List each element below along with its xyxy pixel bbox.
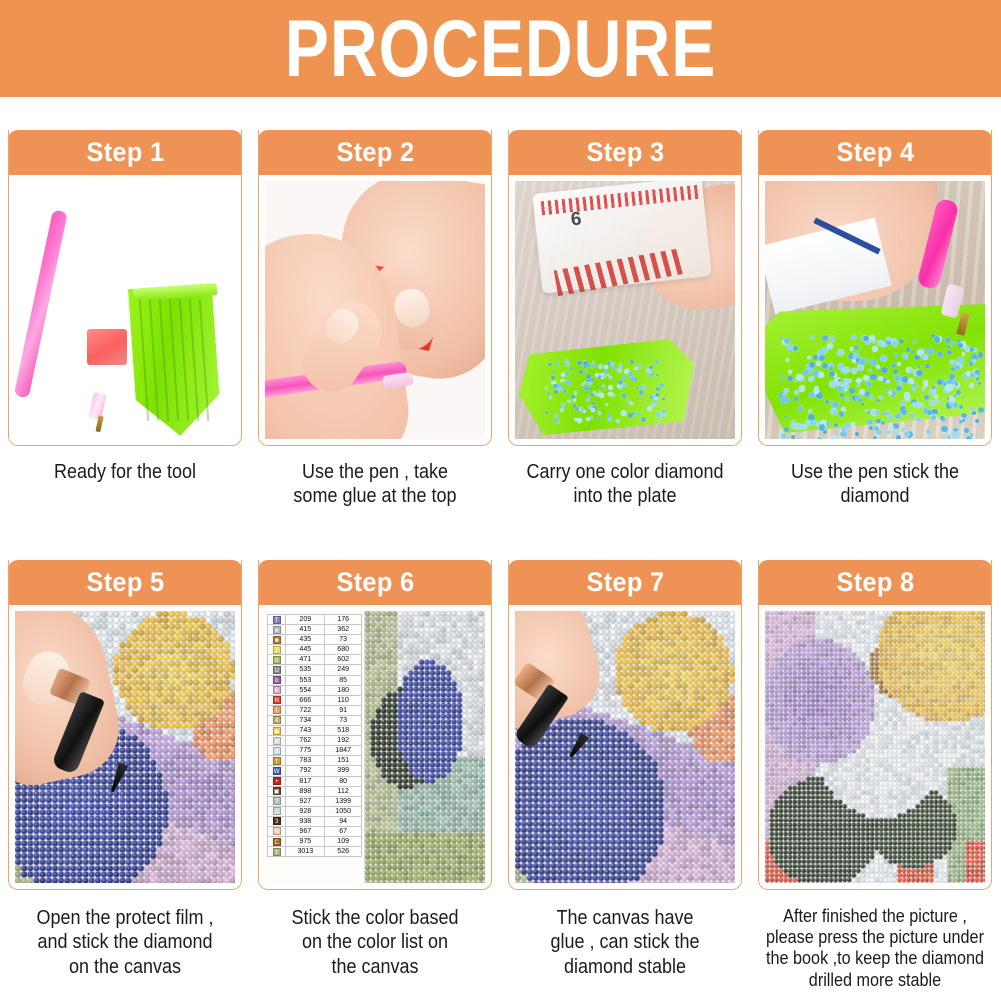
color-symbol-cell: ● (268, 625, 286, 635)
diamond-bead (859, 358, 866, 365)
diamond-bead (622, 376, 626, 380)
diamond-bead (934, 336, 941, 343)
diamond-bead (867, 419, 873, 425)
count-cell: 1847 (325, 746, 362, 756)
step-card-5[interactable]: Step 5 (8, 560, 242, 890)
color-symbol-cell: Y (268, 847, 286, 857)
diamond-bead (649, 373, 653, 377)
color-list-row: C975109 (268, 837, 362, 847)
step-caption-7: The canvas have glue , can stick the dia… (514, 906, 735, 979)
count-cell: 399 (325, 766, 362, 776)
page-header-banner: PROCEDURE (0, 0, 1001, 97)
diamond-bead (553, 371, 556, 374)
diamond-bead (565, 361, 570, 366)
count-cell: 91 (325, 705, 362, 715)
dmc-number-cell: 783 (286, 756, 325, 766)
diamond-bead (955, 382, 958, 385)
diamond-bead (634, 378, 637, 381)
diamond-bead (788, 370, 792, 374)
step-cell-4: Step 4 Use t (750, 130, 1000, 509)
diamond-bead (608, 392, 613, 397)
diamond-bead (896, 386, 902, 392)
color-list-row: †783151 (268, 756, 362, 766)
color-list-row: ▣898112 (268, 786, 362, 796)
caption-line: The canvas have (514, 906, 735, 930)
color-list-row: △9281050 (268, 806, 362, 816)
diamond-bead (655, 360, 659, 364)
dmc-number-cell: 743 (286, 726, 325, 736)
color-symbol-cell: † (268, 756, 286, 766)
step-cell-5: Step 5 Open the protect (0, 560, 250, 991)
dmc-number-cell: 762 (286, 736, 325, 746)
diamond-bead (817, 437, 822, 439)
diamond-bead (798, 406, 803, 411)
diamond-bead (553, 384, 558, 389)
step-header-label-3: Step 3 (586, 139, 664, 166)
diamond-bead (957, 357, 964, 364)
caption-line: Stick the color based (264, 906, 485, 930)
count-cell: 176 (325, 615, 362, 625)
color-list-row: //7751847 (268, 746, 362, 756)
diamond-bead (883, 412, 887, 416)
color-symbol-cell: ■ (268, 635, 286, 645)
count-cell: 526 (325, 847, 362, 857)
step-card-8[interactable]: Step 8 (758, 560, 992, 890)
step-card-7[interactable]: Step 7 (508, 560, 742, 890)
color-symbol-cell: n (268, 655, 286, 665)
diamond-bead (934, 395, 938, 399)
caption-line: some glue at the top (264, 484, 485, 508)
color-symbol-cell: İ (268, 705, 286, 715)
step-caption-2: Use the pen , take some glue at the top (264, 460, 485, 509)
color-symbol-cell: W (268, 766, 286, 776)
diamond-bead (866, 381, 872, 387)
diamond-bead (548, 392, 551, 395)
step-cell-3: Step 3 6 Carry one color d (500, 130, 750, 509)
count-cell: 151 (325, 756, 362, 766)
color-list-row: ◆743518 (268, 726, 362, 736)
diamond-bead (962, 352, 965, 355)
diamond-bead (902, 376, 909, 383)
diamond-bead (904, 392, 910, 398)
dmc-color-list[interactable]: T209176●415362■435737445680n471602U53524… (265, 611, 365, 883)
diamond-bead (781, 375, 785, 379)
diamond-bead (598, 364, 603, 369)
diamond-bead (808, 409, 812, 413)
color-list-row: ●415362 (268, 625, 362, 635)
caption-line: Use the pen stick the (764, 460, 985, 484)
diamond-bead (561, 403, 565, 407)
diamond-bead (632, 412, 635, 415)
caption-line: Carry one color diamond (514, 460, 735, 484)
diamond-bead (852, 359, 856, 363)
diamond-bead (565, 359, 568, 362)
diamond-bead (628, 413, 633, 418)
caption-line: drilled more stable (764, 970, 985, 991)
step-header-label-8: Step 8 (836, 569, 914, 596)
diamond-bead (793, 346, 798, 351)
diamond-bead (587, 364, 590, 367)
diamond-bead (593, 391, 596, 394)
diamond-bead (972, 411, 976, 415)
diamond-canvas-mosaic (365, 611, 485, 883)
color-list-row: ?9271399 (268, 796, 362, 806)
diamond-bead (618, 380, 623, 385)
caption-line: Open the protect film , (14, 906, 235, 930)
diamond-bead (641, 417, 646, 422)
step-cell-6: Step 6 T209176●415362■435737445680n47160… (250, 560, 500, 991)
step-card-3[interactable]: Step 3 6 (508, 130, 742, 446)
diamond-bead (621, 410, 626, 415)
dmc-number-cell: 471 (286, 655, 325, 665)
step-body-5 (9, 605, 241, 889)
diamond-canvas-mosaic (765, 611, 985, 883)
diamond-bead (598, 393, 602, 397)
diamond-bead (628, 372, 633, 377)
diamond-bead (829, 366, 833, 370)
step-cell-8: Step 8 After finished the picture , plea… (750, 560, 1000, 991)
diamond-bead (931, 415, 936, 420)
step-header-label-5: Step 5 (86, 569, 164, 596)
count-cell: 110 (325, 695, 362, 705)
diamond-bead (639, 390, 644, 395)
diamond-bead (554, 419, 558, 423)
drill-pen-icon (15, 209, 68, 398)
dmc-number-cell: 722 (286, 705, 325, 715)
caption-line: the book ,to keep the diamond (764, 948, 985, 969)
count-cell: 112 (325, 786, 362, 796)
diamond-bead (845, 397, 849, 401)
dmc-number-cell: 415 (286, 625, 325, 635)
step-body-7 (509, 605, 741, 889)
step-caption-3: Carry one color diamond into the plate (514, 460, 735, 509)
caption-line: on the color list on (264, 930, 485, 954)
diamond-bead (814, 386, 820, 392)
diamond-bead (796, 374, 803, 381)
caption-line: diamond stable (514, 955, 735, 979)
diamond-bead (577, 361, 582, 366)
dmc-number-cell: 927 (286, 796, 325, 806)
step-body-8 (759, 605, 991, 889)
caption-line: on the canvas (14, 955, 235, 979)
caption-line: into the plate (514, 484, 735, 508)
caption-line: After finished the picture , (764, 906, 985, 927)
diamond-bead (829, 381, 835, 387)
count-cell: 1050 (325, 806, 362, 816)
color-symbol-cell: ? (268, 796, 286, 806)
diamond-bead (654, 401, 658, 405)
diamond-bead (816, 361, 821, 366)
count-cell: 249 (325, 665, 362, 675)
diamond-bead (595, 373, 599, 377)
step-cell-1: Step 1 (0, 130, 250, 509)
caption-line: Use the pen , take (264, 460, 485, 484)
color-symbol-cell: 6 (268, 685, 286, 695)
diamond-bead (859, 389, 865, 395)
count-cell: 602 (325, 655, 362, 665)
diamond-bead (592, 402, 595, 405)
diamond-bead (787, 376, 793, 382)
step-body-2 (259, 175, 491, 445)
step-card-4[interactable]: Step 4 (758, 130, 992, 446)
step-header-6: Step 6 (258, 560, 492, 605)
count-cell: 73 (325, 635, 362, 645)
step-card-1[interactable]: Step 1 (8, 130, 242, 446)
diamond-bead (961, 413, 967, 419)
diamond-bead (899, 339, 904, 344)
color-list-row: ■43573 (268, 635, 362, 645)
color-list-and-canvas: T209176●415362■435737445680n471602U53524… (265, 611, 485, 883)
diamond-bead (781, 433, 787, 439)
diamond-bead (951, 342, 955, 346)
color-symbol-cell: b (268, 675, 286, 685)
color-list-row: T209176 (268, 615, 362, 625)
diamond-bead (906, 347, 911, 352)
diamond-bead (893, 369, 898, 374)
step-header-8: Step 8 (758, 560, 992, 605)
diamond-bead (876, 419, 881, 424)
step-image-5 (15, 611, 235, 883)
color-symbol-cell: C (268, 837, 286, 847)
diamond-bead (560, 408, 564, 412)
diamond-bead (970, 433, 974, 437)
diamond-bead (970, 373, 974, 377)
diamond-bead (894, 353, 898, 357)
color-symbol-cell: 4 (268, 715, 286, 725)
diamond-bead (787, 344, 793, 350)
count-cell: 73 (325, 715, 362, 725)
color-list-row: =762192 (268, 736, 362, 746)
diamond-bead (822, 335, 828, 341)
caption-line: diamond (764, 484, 985, 508)
count-cell: 362 (325, 625, 362, 635)
step-body-4 (759, 175, 991, 445)
color-symbol-cell: 3 (268, 816, 286, 826)
diamond-bead (873, 436, 877, 439)
diamond-bead (617, 368, 622, 373)
diamond-bead (639, 386, 641, 388)
step-image-2 (265, 181, 485, 439)
diamond-bead (929, 400, 935, 406)
color-symbol-cell: % (268, 826, 286, 836)
dmc-number-cell: 435 (286, 635, 325, 645)
caption-line: please press the picture under (764, 927, 985, 948)
dmc-number-cell: 938 (286, 816, 325, 826)
diamond-bead (841, 426, 847, 432)
step-header-label-1: Step 1 (86, 139, 164, 166)
diamond-bead (579, 370, 583, 374)
count-cell: 109 (325, 837, 362, 847)
diamond-bead (945, 337, 951, 343)
color-list-row: N666110 (268, 695, 362, 705)
diamond-bead (577, 418, 582, 423)
step-image-3: 6 (515, 181, 735, 439)
diamond-bead (870, 374, 877, 381)
color-list-row: U535249 (268, 665, 362, 675)
step-caption-5: Open the protect film , and stick the di… (14, 906, 235, 979)
count-cell: 192 (325, 736, 362, 746)
color-symbol-cell: U (268, 665, 286, 675)
diamond-bead (607, 414, 611, 418)
diamond-bead (946, 384, 952, 390)
diamond-bead (609, 376, 612, 379)
diamond-bead (591, 408, 595, 412)
diamond-bead (876, 399, 879, 402)
diamond-bead (808, 376, 814, 382)
dmc-number-cell: 792 (286, 766, 325, 776)
count-cell: 94 (325, 816, 362, 826)
step-header-4: Step 4 (758, 130, 992, 175)
step-card-6[interactable]: Step 6 T209176●415362■435737445680n47160… (258, 560, 492, 890)
diamond-bead (799, 385, 806, 392)
diamond-bead (843, 378, 849, 384)
color-list-row: W792399 (268, 766, 362, 776)
steps-row-2: Step 5 Open the protect (0, 560, 1001, 991)
diamond-bead (946, 345, 950, 349)
color-symbol-cell: • (268, 776, 286, 786)
step-header-label-4: Step 4 (836, 139, 914, 166)
diamond-bead (567, 400, 571, 404)
dmc-number-cell: 928 (286, 806, 325, 816)
diamond-bead (964, 428, 969, 433)
bag-number-label: 6 (570, 209, 583, 232)
diamond-bead (849, 388, 855, 394)
diamond-bead (630, 402, 633, 405)
diamond-bead (809, 362, 815, 368)
diamond-bead (658, 419, 661, 422)
dmc-number-cell: 666 (286, 695, 325, 705)
diamond-bead (951, 431, 958, 438)
diamond-bead (598, 418, 601, 421)
dmc-number-cell: 445 (286, 645, 325, 655)
count-cell: 80 (325, 776, 362, 786)
diamond-bead (896, 435, 901, 439)
diamond-bead (810, 420, 816, 426)
step-cell-7: Step 7 The canvas have glue (500, 560, 750, 991)
diamond-bead (969, 383, 974, 388)
color-list-row: 7445680 (268, 645, 362, 655)
diamond-bead (831, 435, 837, 439)
dmc-number-cell: 209 (286, 615, 325, 625)
wax-square-icon (87, 329, 127, 365)
diamond-bead (910, 413, 914, 417)
diamond-bead (791, 423, 797, 429)
diamond-bead (900, 401, 905, 406)
diamond-bead (923, 380, 928, 385)
diamond-bead (818, 372, 824, 378)
diamond-bead (839, 411, 844, 416)
step-image-8 (765, 611, 985, 883)
diamond-bead (794, 390, 799, 395)
step-header-5: Step 5 (8, 560, 242, 605)
step-header-1: Step 1 (8, 130, 242, 175)
diamond-bead (554, 414, 557, 417)
diamond-bead (829, 371, 835, 377)
diamond-bead (584, 381, 587, 384)
diamond-bead (956, 390, 961, 395)
step-image-1 (15, 181, 235, 439)
color-list-row: b55385 (268, 675, 362, 685)
diamond-bead (880, 355, 887, 362)
step-caption-6: Stick the color based on the color list … (264, 906, 485, 979)
dmc-number-cell: 553 (286, 675, 325, 685)
diamond-bead (583, 361, 587, 365)
diamond-bead (837, 349, 844, 356)
step-header-2: Step 2 (258, 130, 492, 175)
step-body-1 (9, 175, 241, 445)
step-cell-2: Step 2 (250, 130, 500, 509)
step-header-label-7: Step 7 (586, 569, 664, 596)
diamond-bead (590, 378, 594, 382)
diamond-bead (662, 398, 664, 400)
diamond-bead (916, 370, 922, 376)
diamond-bead (878, 376, 883, 381)
diamond-bead (976, 377, 980, 381)
color-symbol-cell: ◆ (268, 726, 286, 736)
color-symbol-cell: ▣ (268, 786, 286, 796)
diamond-bead (782, 393, 786, 397)
diamond-bead (574, 418, 577, 421)
diamond-bead (857, 383, 861, 387)
diamond-bead (913, 340, 917, 344)
dmc-number-cell: 734 (286, 715, 325, 725)
pen-tip-cap (382, 372, 414, 389)
procedure-infographic: PROCEDURE Step 1 (0, 0, 1001, 1001)
dmc-number-cell: 898 (286, 786, 325, 796)
color-list-row: Y3013526 (268, 847, 362, 857)
color-list-row: İ72291 (268, 705, 362, 715)
dmc-number-cell: 535 (286, 665, 325, 675)
step-header-3: Step 3 (508, 130, 742, 175)
diamond-bead (904, 431, 910, 437)
diamond-bead (619, 386, 622, 389)
color-symbol-cell: △ (268, 806, 286, 816)
step-caption-1: Ready for the tool (14, 460, 235, 484)
step-header-7: Step 7 (508, 560, 742, 605)
count-cell: 518 (325, 726, 362, 736)
step-caption-8: After finished the picture , please pres… (764, 906, 985, 991)
count-cell: 85 (325, 675, 362, 685)
diamond-bead (548, 363, 551, 366)
diamond-bead (649, 366, 653, 370)
diamond-bead (927, 410, 932, 415)
color-list-row: %96767 (268, 826, 362, 836)
step-caption-4: Use the pen stick the diamond (764, 460, 985, 509)
diamond-bead (807, 356, 811, 360)
color-list-row: •81780 (268, 776, 362, 786)
color-list-table: T209176●415362■435737445680n471602U53524… (267, 614, 362, 857)
step-card-2[interactable]: Step 2 (258, 130, 492, 446)
diamond-bead (869, 426, 873, 430)
caption-line: and stick the diamond (14, 930, 235, 954)
diamond-bead (947, 350, 952, 355)
color-list-row: n471602 (268, 655, 362, 665)
step-header-label-6: Step 6 (336, 569, 414, 596)
diamond-bead (927, 348, 934, 355)
color-symbol-cell: = (268, 736, 286, 746)
step-body-6: T209176●415362■435737445680n471602U53524… (259, 605, 491, 889)
diamond-bead (851, 368, 857, 374)
diamond-bead (784, 427, 789, 432)
caption-line: the canvas (264, 955, 485, 979)
diamond-bead (575, 407, 579, 411)
dmc-number-cell: 3013 (286, 847, 325, 857)
diamond-bead (604, 387, 606, 389)
color-list-row: 6554180 (268, 685, 362, 695)
count-cell: 180 (325, 685, 362, 695)
dmc-number-cell: 554 (286, 685, 325, 695)
diamond-bead (838, 379, 841, 382)
